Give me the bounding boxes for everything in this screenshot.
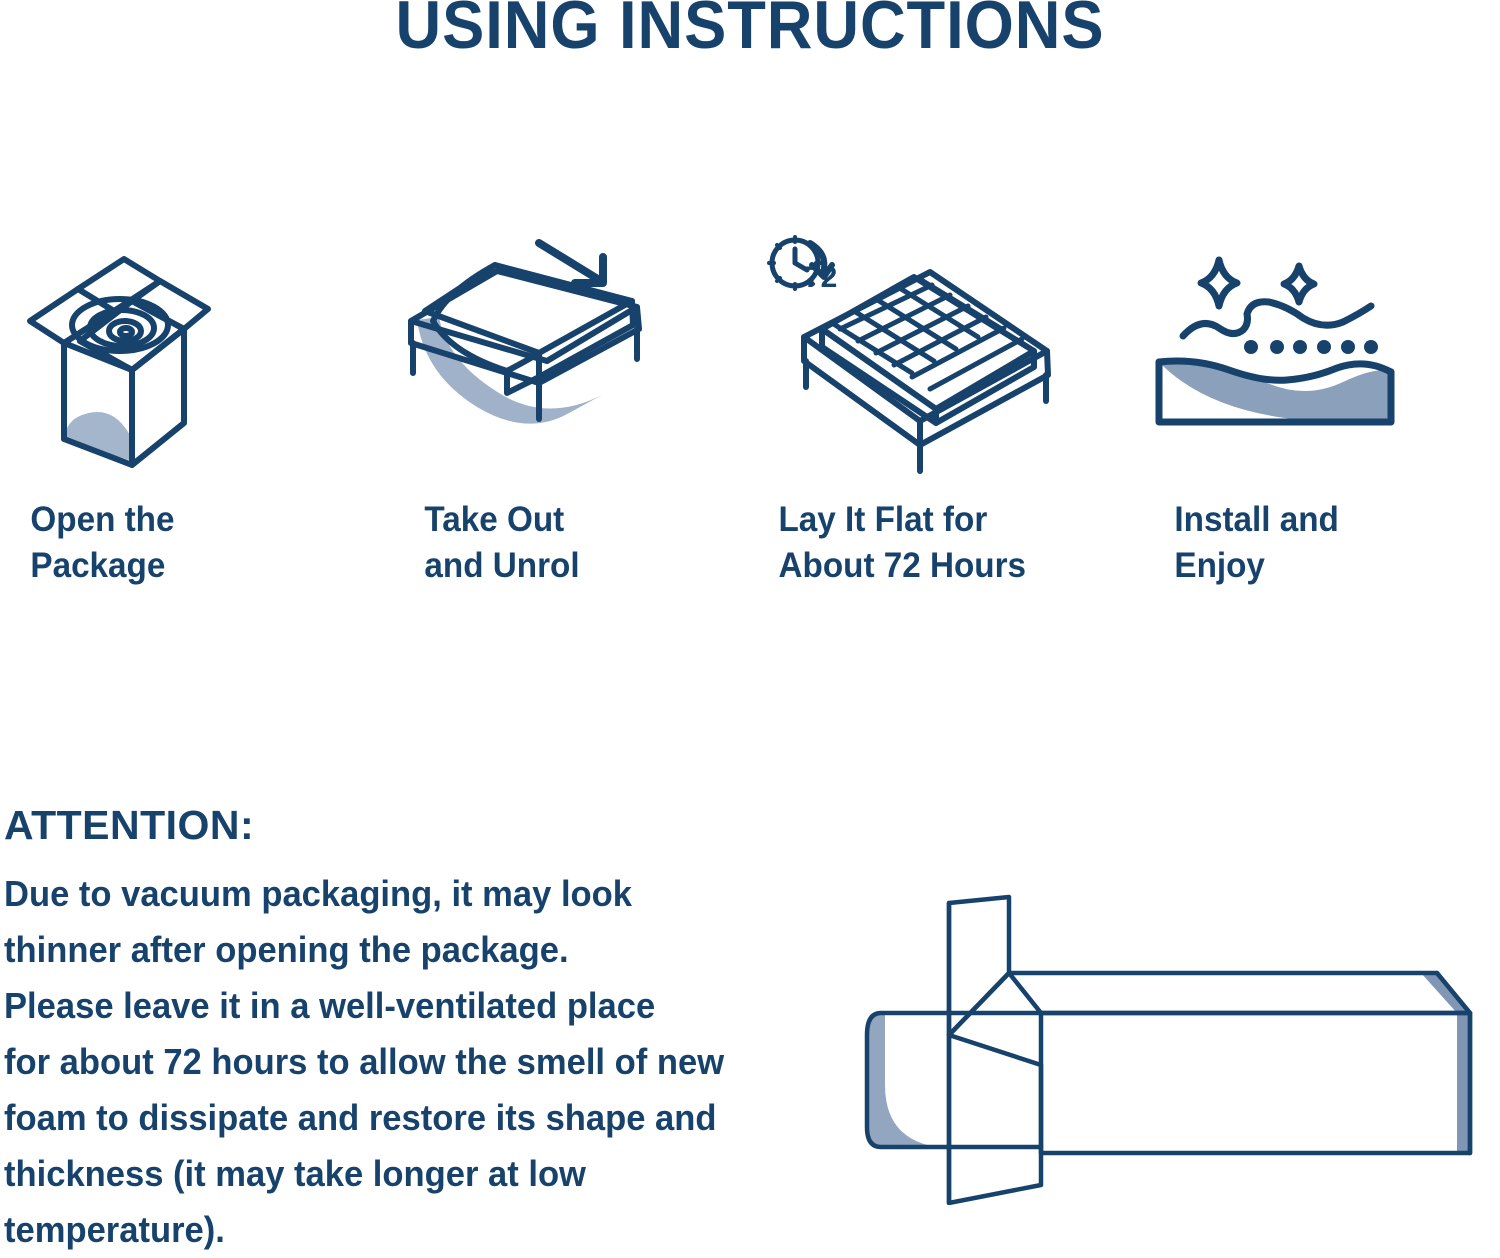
step-take-out-and-unrol: Take Out and Unrol bbox=[375, 225, 750, 589]
airflow-dots bbox=[1244, 340, 1378, 354]
page-title: USING INSTRUCTIONS bbox=[53, 0, 1448, 64]
unroll-mattress-on-bed-base-icon bbox=[387, 225, 667, 475]
step-3-label: Lay It Flat for About 72 Hours bbox=[750, 497, 1026, 589]
step-3-icon-wrap: 72 bbox=[750, 225, 1125, 475]
steps-row: Open the Package bbox=[0, 225, 1500, 589]
quilted-mattress-on-bed-with-72-hour-clock-icon: 72 bbox=[762, 225, 1062, 475]
badge-72-text: 72 bbox=[804, 261, 837, 294]
attention-body-text: Due to vacuum packaging, it may look thi… bbox=[4, 866, 849, 1258]
open-box-with-rolled-mattress-icon bbox=[12, 225, 242, 475]
foam-layer-with-sparkles-and-airflow-icon bbox=[1137, 250, 1407, 450]
step-2-icon-wrap bbox=[375, 225, 750, 475]
long-mattress-box-with-open-flaps-illustration bbox=[845, 875, 1500, 1205]
step-1-label: Open the Package bbox=[0, 497, 175, 589]
attention-heading: ATTENTION: bbox=[4, 800, 254, 850]
step-lay-it-flat: 72 bbox=[750, 225, 1125, 589]
step-install-and-enjoy: Install and Enjoy bbox=[1125, 225, 1500, 589]
step-open-the-package: Open the Package bbox=[0, 225, 375, 589]
step-4-label: Install and Enjoy bbox=[1125, 497, 1339, 589]
step-1-icon-wrap bbox=[0, 225, 375, 475]
bottom-illustration-wrap bbox=[845, 875, 1500, 1205]
step-2-label: Take Out and Unrol bbox=[375, 497, 580, 589]
step-4-icon-wrap bbox=[1125, 225, 1500, 475]
